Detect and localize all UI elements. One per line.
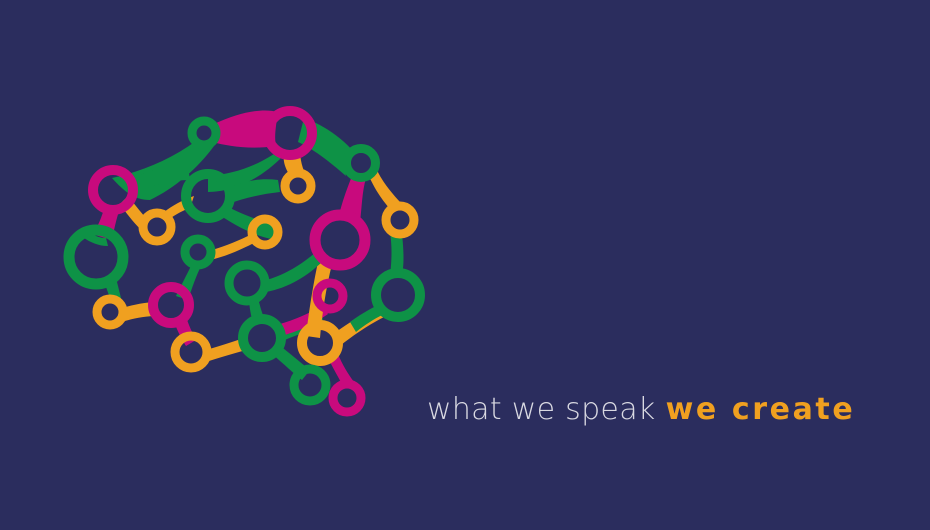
tagline: what we speakwe create xyxy=(427,389,855,431)
tagline-accent-text: we create xyxy=(666,392,856,427)
node-n19 xyxy=(243,319,281,357)
node-n3 xyxy=(285,173,311,199)
node-n4 xyxy=(347,149,376,178)
brain-network-logo xyxy=(0,0,500,530)
node-n16 xyxy=(153,287,189,323)
node-n5 xyxy=(386,206,414,234)
tagline-light-text: what we speak xyxy=(427,392,656,427)
splash-screen: what we speakwe create xyxy=(0,0,930,530)
node-n14 xyxy=(376,273,420,317)
node-n12 xyxy=(185,239,211,265)
node-n13 xyxy=(229,265,265,301)
node-n10 xyxy=(315,215,365,265)
node-n22 xyxy=(333,384,361,412)
node-n17 xyxy=(317,283,343,309)
node-n15 xyxy=(97,299,123,325)
logo-nodes xyxy=(69,111,420,412)
node-n1 xyxy=(192,121,216,145)
node-n21 xyxy=(294,369,326,401)
node-n7 xyxy=(143,213,171,241)
